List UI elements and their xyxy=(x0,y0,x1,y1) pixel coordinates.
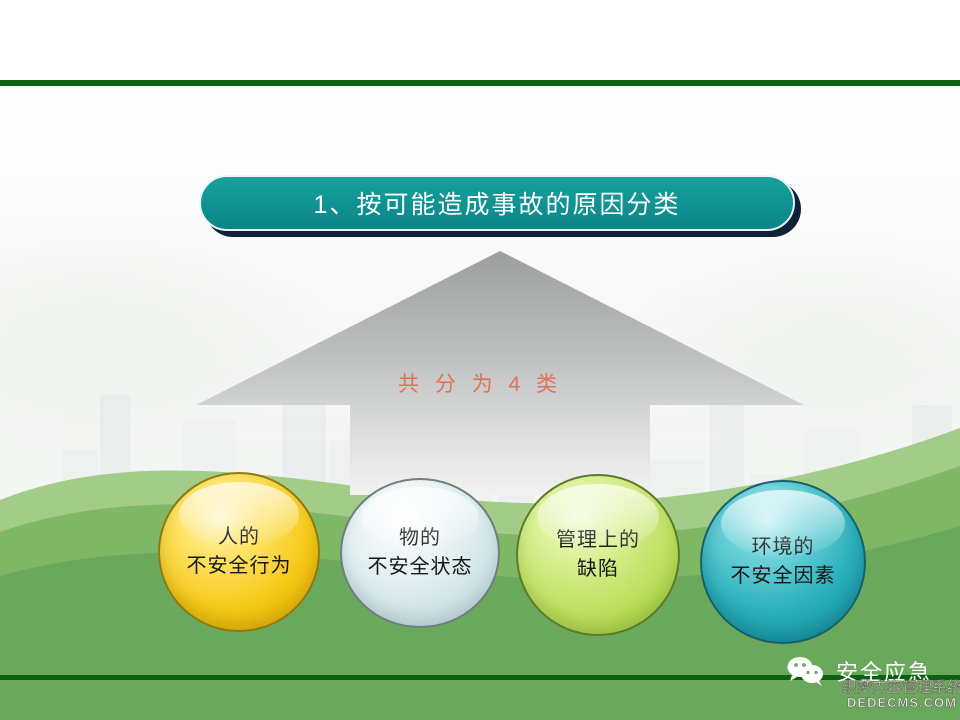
bubble-object-unsafe-state[interactable]: 物的 不安全状态 xyxy=(340,478,500,628)
watermark-english: DEDECMS.COM xyxy=(842,696,960,710)
watermark-chinese: 织梦内容管理系统 xyxy=(842,680,960,696)
top-white-margin xyxy=(0,0,960,80)
bubble-label-line1: 管理上的 xyxy=(556,526,640,555)
bubble-label-line2: 不安全行为 xyxy=(187,552,292,581)
slide-canvas: 共 分 为 4 类 1、按可能造成事故的原因分类 人的 不安全行为 物的 不安全… xyxy=(0,0,960,720)
bubble-label-line1: 人的 xyxy=(218,523,260,552)
bubble-environment-unsafe-factor[interactable]: 环境的 不安全因素 xyxy=(700,480,866,644)
wechat-icon xyxy=(786,656,828,686)
arrow-label: 共 分 为 4 类 xyxy=(0,368,960,398)
bubble-label-line1: 物的 xyxy=(399,524,441,553)
bubble-human-unsafe-behavior[interactable]: 人的 不安全行为 xyxy=(158,472,320,632)
bubble-label-line1: 环境的 xyxy=(752,533,815,562)
bubble-management-defect[interactable]: 管理上的 缺陷 xyxy=(516,474,680,636)
bubble-label-line2: 不安全因素 xyxy=(731,562,836,591)
bubble-label-line2: 不安全状态 xyxy=(368,553,473,582)
title-banner-text: 1、按可能造成事故的原因分类 xyxy=(314,185,681,221)
bubble-label-line2: 缺陷 xyxy=(577,555,619,584)
title-banner[interactable]: 1、按可能造成事故的原因分类 xyxy=(199,175,795,231)
watermark: 织梦内容管理系统 DEDECMS.COM xyxy=(842,680,960,709)
